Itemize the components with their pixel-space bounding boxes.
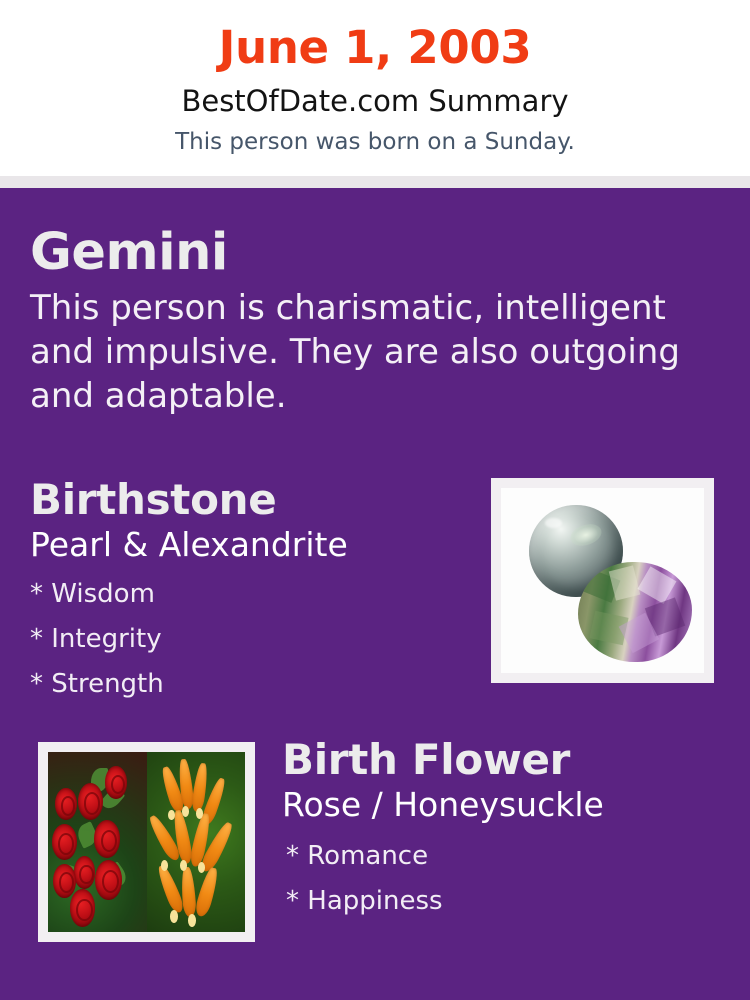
alexandrite-gem-icon — [578, 562, 692, 662]
rose-photo-half — [48, 752, 147, 932]
born-day-note: This person was born on a Sunday. — [0, 128, 750, 156]
zodiac-title: Gemini — [30, 224, 720, 282]
list-item: * Happiness — [286, 879, 732, 924]
site-summary-label: BestOfDate.com Summary — [0, 84, 750, 118]
birthstone-trait-list: * Wisdom * Integrity * Strength — [30, 572, 480, 707]
list-item: * Strength — [30, 662, 480, 707]
birth-flower-title: Birth Flower — [282, 736, 732, 784]
list-item: * Wisdom — [30, 572, 480, 617]
summary-card: June 1, 2003 BestOfDate.com Summary This… — [0, 0, 750, 1000]
birthstone-section: Birthstone Pearl & Alexandrite * Wisdom … — [30, 476, 480, 707]
card-header: June 1, 2003 BestOfDate.com Summary This… — [0, 0, 750, 176]
birth-flower-trait-list: * Romance * Happiness — [282, 834, 732, 924]
zodiac-section: Gemini This person is charismatic, intel… — [30, 224, 720, 418]
birthstone-title: Birthstone — [30, 476, 480, 524]
birth-flower-names: Rose / Honeysuckle — [282, 786, 732, 824]
honeysuckle-photo-half — [147, 752, 246, 932]
birthstone-names: Pearl & Alexandrite — [30, 526, 480, 564]
birthstone-photo-frame — [491, 478, 714, 683]
birth-flower-photo — [48, 752, 245, 932]
birthstone-photo — [501, 488, 704, 673]
page-title-date: June 1, 2003 — [0, 22, 750, 74]
birth-flower-photo-frame — [38, 742, 255, 942]
list-item: * Integrity — [30, 617, 480, 662]
zodiac-description: This person is charismatic, intelligent … — [30, 286, 700, 418]
list-item: * Romance — [286, 834, 732, 879]
header-divider — [0, 176, 750, 188]
birth-flower-section: Birth Flower Rose / Honeysuckle * Romanc… — [282, 736, 732, 924]
